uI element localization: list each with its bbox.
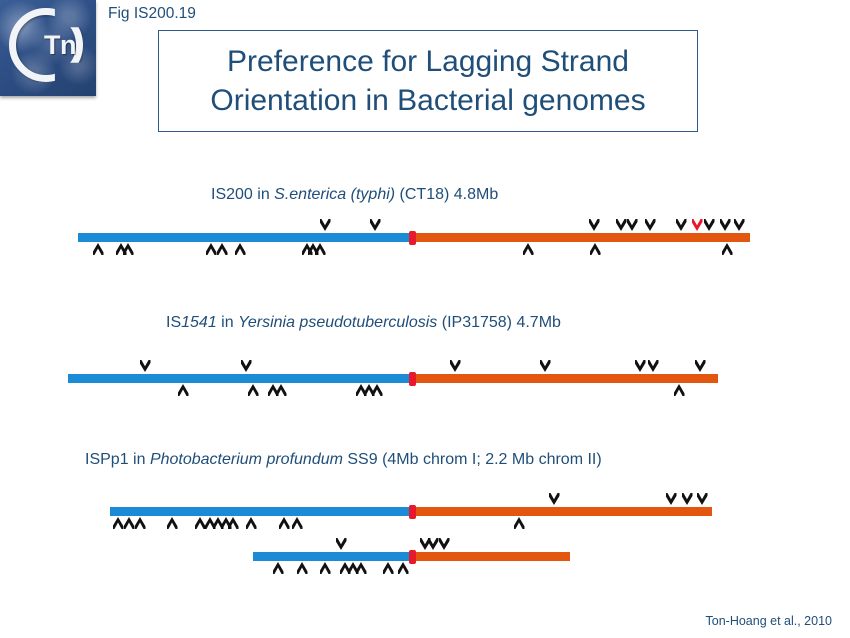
- is-element-marker-up: [372, 384, 383, 396]
- track-ispp1-chrom2: [253, 552, 570, 561]
- leading-strand-segment: [253, 552, 412, 561]
- is-element-marker-down: [635, 360, 646, 372]
- is-element-marker-up: [523, 243, 534, 255]
- is-element-marker-down: [697, 493, 708, 505]
- caption-species-name: 1541: [181, 314, 217, 331]
- caption-text: (CT18) 4.8Mb: [395, 186, 498, 203]
- is-element-marker-up: [297, 562, 308, 574]
- caption-text: in: [217, 314, 238, 331]
- is-element-marker-down: [616, 219, 627, 231]
- caption-text: IS: [166, 314, 181, 331]
- is-element-marker-up: [246, 517, 257, 529]
- track-caption: IS200 in S.enterica (typhi) (CT18) 4.8Mb: [211, 186, 498, 204]
- caption-species-name: Photobacterium profundum: [150, 451, 343, 468]
- title-box: Preference for Lagging Strand Orientatio…: [158, 30, 698, 132]
- is-element-marker-down: [720, 219, 731, 231]
- is-element-marker-up: [320, 562, 331, 574]
- caption-species-name: S.enterica (typhi): [274, 186, 395, 203]
- is-element-marker-down: [682, 493, 693, 505]
- track-ispp1-chrom1: [110, 507, 712, 516]
- caption-text: IS200 in: [211, 186, 274, 203]
- is-element-marker-down: [695, 360, 706, 372]
- is-element-marker-down: [428, 538, 439, 550]
- is-element-marker-up: [113, 517, 124, 529]
- is-element-marker-up: [206, 243, 217, 255]
- is-element-marker-up: [356, 562, 367, 574]
- track-caption: ISPp1 in Photobacterium profundum SS9 (4…: [85, 451, 602, 469]
- leading-strand-segment: [68, 374, 412, 383]
- is-element-marker-up: [235, 243, 246, 255]
- is-element-marker-down: [370, 219, 381, 231]
- source-credit: Ton-Hoang et al., 2010: [706, 614, 832, 628]
- is-element-marker-up: [590, 243, 601, 255]
- leading-strand-segment: [110, 507, 412, 516]
- is-element-marker-down: [140, 360, 151, 372]
- is-element-marker-up: [217, 243, 228, 255]
- figure-label: Fig IS200.19: [108, 5, 196, 23]
- is-element-marker-up: [276, 384, 287, 396]
- leading-strand-segment: [78, 233, 412, 242]
- replication-origin-marker: [409, 372, 416, 386]
- caption-text: ISPp1 in: [85, 451, 150, 468]
- page-title: Preference for Lagging Strand Orientatio…: [159, 42, 697, 120]
- track-is200: [78, 233, 750, 242]
- ctn-logo: Tn: [0, 0, 96, 96]
- is-element-marker-up: [195, 517, 206, 529]
- caption-text: SS9 (4Mb chrom I; 2.2 Mb chrom II): [343, 451, 602, 468]
- logo-tn-text: Tn: [44, 30, 76, 61]
- is-element-marker-down: [589, 219, 600, 231]
- is-element-marker-up: [398, 562, 409, 574]
- is-element-marker-down: [336, 538, 347, 550]
- is-element-marker-down: [549, 493, 560, 505]
- is-element-marker-up: [674, 384, 685, 396]
- is-element-marker-down: [320, 219, 331, 231]
- is-element-marker-up: [273, 562, 284, 574]
- is-element-marker-up: [167, 517, 178, 529]
- is-element-marker-up: [135, 517, 146, 529]
- caption-text: (IP31758) 4.7Mb: [437, 314, 561, 331]
- replication-origin-marker: [409, 505, 416, 519]
- track-caption: IS1541 in Yersinia pseudotuberculosis (I…: [166, 314, 561, 332]
- is-element-marker-down: [627, 219, 638, 231]
- is-element-marker-up: [722, 243, 733, 255]
- is-element-marker-down: [666, 493, 677, 505]
- is-element-marker-up: [178, 384, 189, 396]
- is-element-marker-up: [292, 517, 303, 529]
- caption-species-name: Yersinia pseudotuberculosis: [238, 314, 437, 331]
- is-element-marker-down: [734, 219, 745, 231]
- is-element-marker-up: [514, 517, 525, 529]
- track-is1541: [68, 374, 718, 383]
- is-element-marker-up: [248, 384, 259, 396]
- lagging-strand-segment: [412, 374, 718, 383]
- lagging-strand-segment: [412, 233, 750, 242]
- is-element-marker-down: [648, 360, 659, 372]
- is-element-marker-down: [540, 360, 551, 372]
- is-element-marker-down: [439, 538, 450, 550]
- is-element-marker-up: [93, 243, 104, 255]
- replication-origin-marker: [409, 550, 416, 564]
- is-element-marker-up: [279, 517, 290, 529]
- is-element-marker-up: [383, 562, 394, 574]
- is-element-marker-down: [241, 360, 252, 372]
- is-element-marker-down: [704, 219, 715, 231]
- is-element-marker-down: [450, 360, 461, 372]
- is-element-marker-down: [676, 219, 687, 231]
- is-element-marker-highlight: [692, 219, 703, 231]
- is-element-marker-up: [124, 517, 135, 529]
- lagging-strand-segment: [412, 552, 570, 561]
- is-element-marker-down: [645, 219, 656, 231]
- replication-origin-marker: [409, 231, 416, 245]
- lagging-strand-segment: [412, 507, 712, 516]
